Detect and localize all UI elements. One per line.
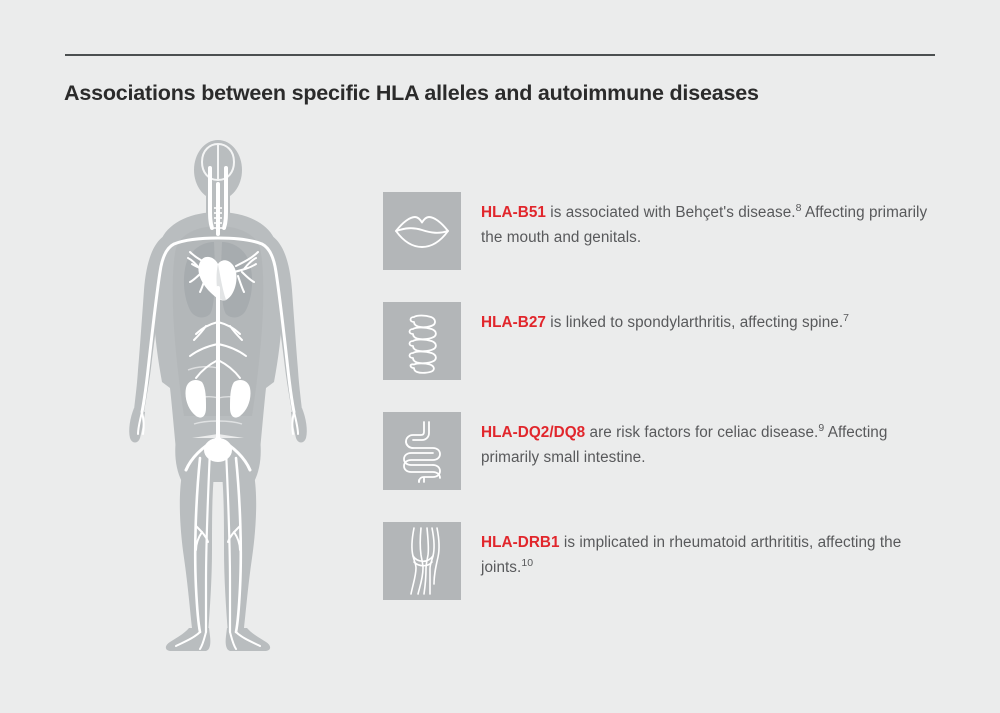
spine-icon [383, 302, 461, 380]
allele-description-part1: is linked to spondylarthritis, affecting… [546, 314, 843, 331]
allele-description-part1: is associated with Behçet's disease. [546, 204, 796, 221]
allele-label: HLA-DRB1 [481, 534, 560, 551]
footnote-reference: 7 [843, 312, 849, 324]
list-item: HLA-B27 is linked to spondylarthritis, a… [383, 302, 943, 380]
list-item-text: HLA-DRB1 is implicated in rheumatoid art… [481, 530, 941, 580]
intestine-icon [383, 412, 461, 490]
allele-label: HLA-DQ2/DQ8 [481, 424, 585, 441]
lips-icon [383, 192, 461, 270]
human-body-anatomy-diagram [118, 138, 318, 658]
list-item-text: HLA-B27 is linked to spondylarthritis, a… [481, 310, 941, 335]
knee-joint-icon [383, 522, 461, 600]
header-divider-rule [65, 54, 935, 56]
list-item: HLA-DRB1 is implicated in rheumatoid art… [383, 522, 943, 600]
list-item: HLA-DQ2/DQ8 are risk factors for celiac … [383, 412, 943, 490]
hla-allele-list: HLA-B51 is associated with Behçet's dise… [383, 192, 943, 632]
footnote-reference: 10 [521, 557, 533, 569]
list-item: HLA-B51 is associated with Behçet's dise… [383, 192, 943, 270]
allele-label: HLA-B27 [481, 314, 546, 331]
allele-description-part1: are risk factors for celiac disease. [585, 424, 818, 441]
allele-label: HLA-B51 [481, 204, 546, 221]
list-item-text: HLA-DQ2/DQ8 are risk factors for celiac … [481, 420, 941, 470]
bladder [204, 438, 232, 462]
page-title: Associations between specific HLA allele… [64, 78, 944, 108]
list-item-text: HLA-B51 is associated with Behçet's dise… [481, 200, 941, 250]
